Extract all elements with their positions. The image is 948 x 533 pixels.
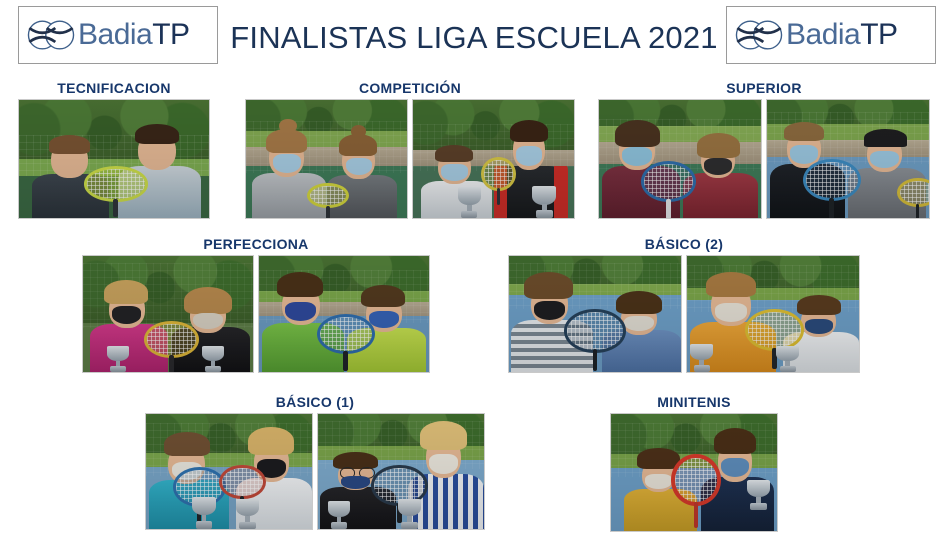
racket-icon xyxy=(481,157,516,204)
tennis-balls-logo-icon xyxy=(25,15,77,55)
racket-icon xyxy=(317,314,375,370)
group-tecnificacion: TECNIFICACION xyxy=(18,80,210,219)
group-basico-2: BÁSICO (2) xyxy=(508,236,860,373)
trophy-icon xyxy=(192,497,215,529)
photo-row-superior xyxy=(598,99,930,219)
tennis-balls-logo-icon xyxy=(733,15,785,55)
group-title-perfecciona: PERFECCIONA xyxy=(82,236,430,252)
page-title: FINALISTAS LIGA ESCUELA 2021 xyxy=(228,20,720,56)
photo-row-basico-2 xyxy=(508,255,860,373)
trophy-icon xyxy=(458,187,481,218)
photo-competicion-2[interactable] xyxy=(412,99,575,219)
logo-left-text-badia: Badia xyxy=(78,18,152,51)
photo-basico-1-2[interactable] xyxy=(317,413,485,530)
trophy-icon xyxy=(202,346,224,372)
photo-perfecciona-1[interactable] xyxy=(82,255,254,373)
racket-icon xyxy=(671,454,721,527)
trophy-icon xyxy=(532,186,556,218)
photo-superior-2[interactable] xyxy=(766,99,930,219)
logo-left-text-tp: TP xyxy=(152,18,189,51)
group-minitenis: MINITENIS xyxy=(610,394,778,532)
trophy-icon xyxy=(107,346,129,372)
photo-row-minitenis xyxy=(610,413,778,532)
photo-row-perfecciona xyxy=(82,255,430,373)
photo-perfecciona-2[interactable] xyxy=(258,255,430,373)
trophy-icon xyxy=(776,346,798,372)
photo-superior-1[interactable] xyxy=(598,99,762,219)
logo-right-text: BadiaTP xyxy=(786,20,898,50)
racket-icon xyxy=(564,309,626,369)
racket-icon xyxy=(307,183,349,218)
racket-icon xyxy=(144,321,198,372)
group-title-basico-2: BÁSICO (2) xyxy=(508,236,860,252)
trophy-icon xyxy=(747,480,770,510)
photo-competicion-1[interactable] xyxy=(245,99,408,219)
group-title-competicion: COMPETICIÓN xyxy=(245,80,575,96)
group-title-basico-1: BÁSICO (1) xyxy=(145,394,485,410)
racket-icon xyxy=(84,166,149,216)
logo-right-text-badia: Badia xyxy=(786,18,860,51)
page-header: BadiaTP FINALISTAS LIGA ESCUELA 2021 Bad… xyxy=(0,0,948,74)
group-competicion: COMPETICIÓN xyxy=(245,80,575,219)
racket-icon xyxy=(897,178,930,218)
racket-icon xyxy=(803,159,861,218)
trophy-icon xyxy=(398,499,421,529)
group-superior: SUPERIOR xyxy=(598,80,930,219)
logo-right-text-tp: TP xyxy=(860,18,897,51)
group-basico-1: BÁSICO (1) xyxy=(145,394,485,530)
photo-minitenis-1[interactable] xyxy=(610,413,778,532)
photo-basico-2-1[interactable] xyxy=(508,255,682,373)
trophy-icon xyxy=(690,344,712,372)
trophy-icon xyxy=(328,501,350,529)
photo-tecnificacion-1[interactable] xyxy=(18,99,210,219)
logo-badiatp-left: BadiaTP xyxy=(18,6,218,64)
group-title-superior: SUPERIOR xyxy=(598,80,930,96)
group-perfecciona: PERFECCIONA xyxy=(82,236,430,373)
group-title-tecnificacion: TECNIFICACION xyxy=(18,80,210,96)
logo-left-text: BadiaTP xyxy=(78,20,190,50)
photo-basico-2-2[interactable] xyxy=(686,255,860,373)
photo-row-competicion xyxy=(245,99,575,219)
logo-badiatp-right: BadiaTP xyxy=(726,6,936,64)
racket-icon xyxy=(641,161,696,218)
photo-basico-1-1[interactable] xyxy=(145,413,313,530)
trophy-icon xyxy=(236,499,259,529)
group-title-minitenis: MINITENIS xyxy=(610,394,778,410)
photo-row-basico-1 xyxy=(145,413,485,530)
photo-row-tecnificacion xyxy=(18,99,210,219)
